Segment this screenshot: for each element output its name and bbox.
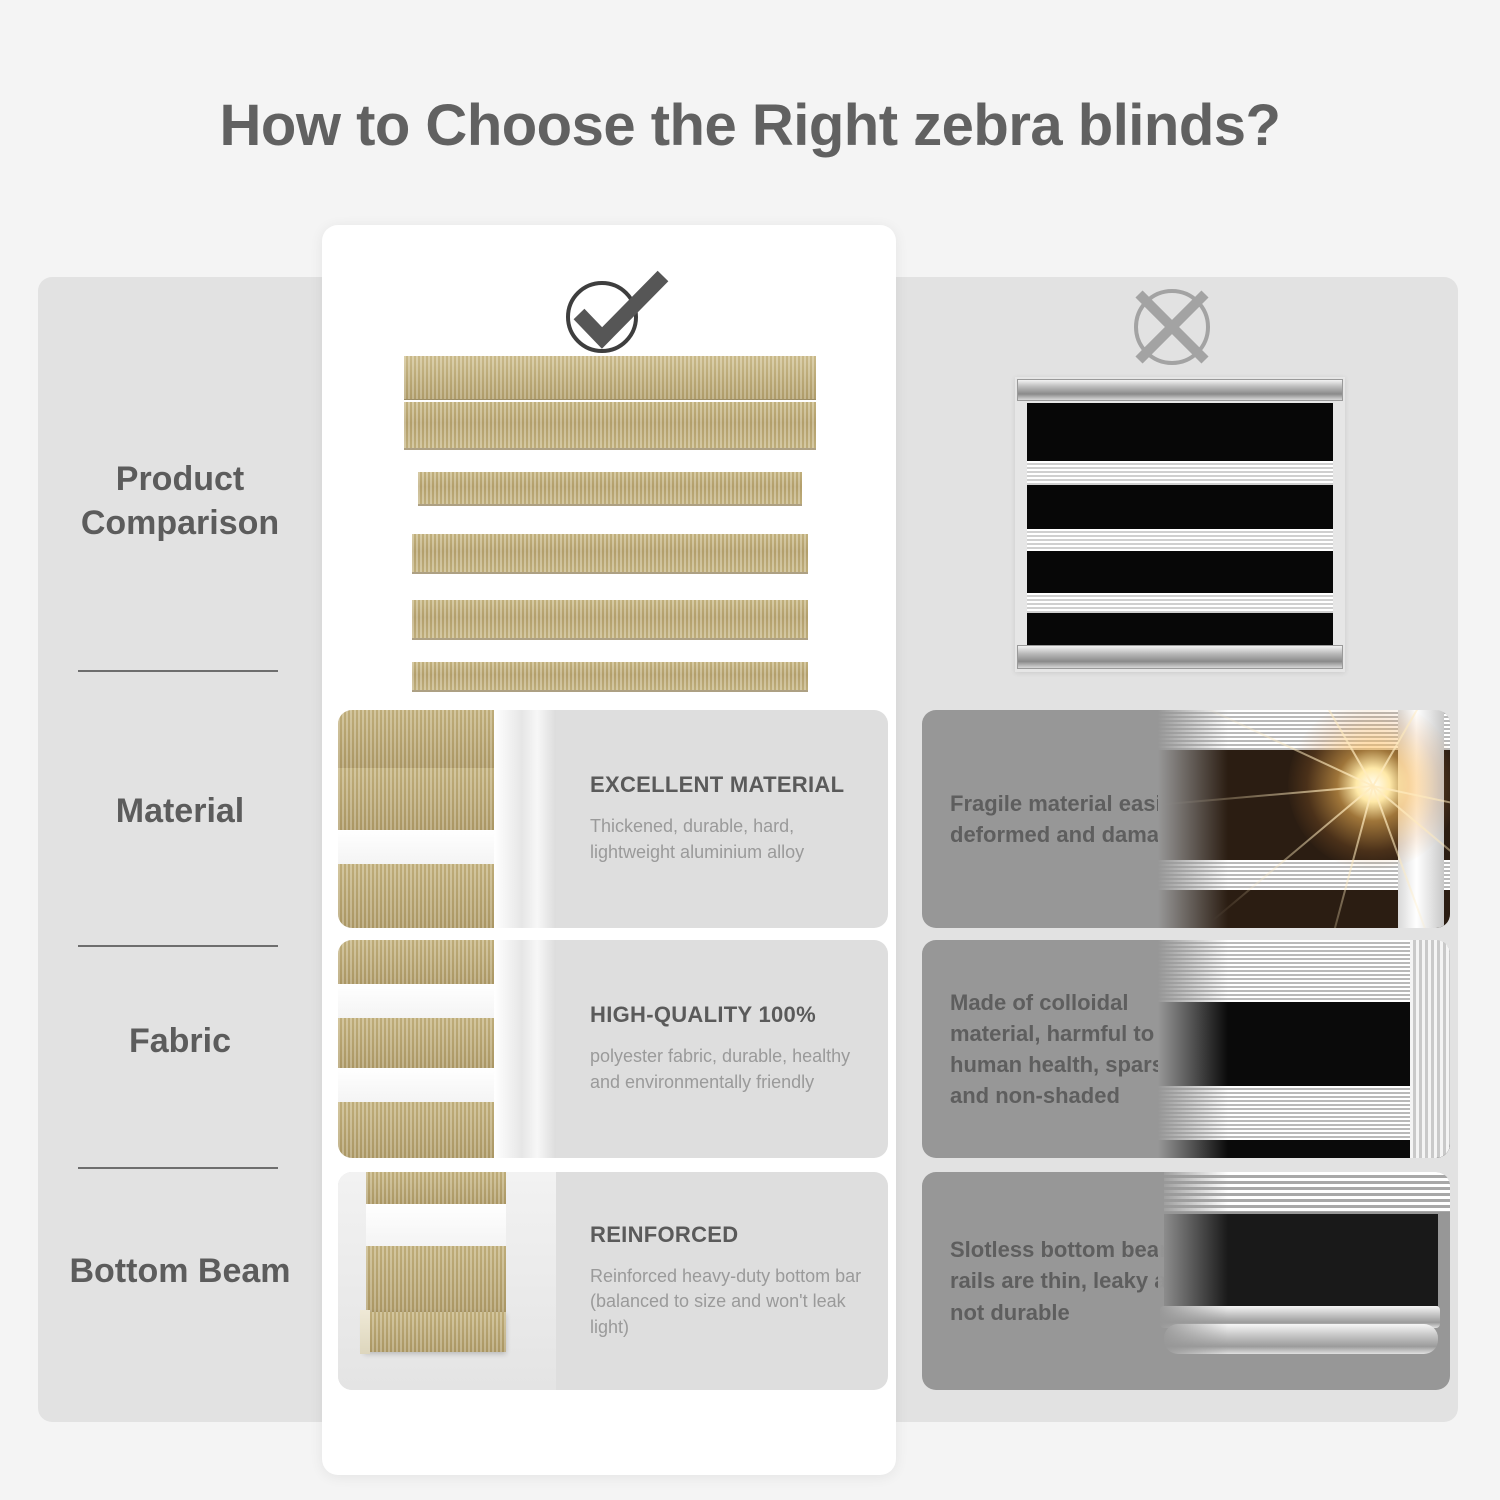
good-feature-card-fabric: HIGH-QUALITY 100% polyester fabric, dura… xyxy=(338,940,888,1158)
good-feature-card-bottom-beam: REINFORCED Reinforced heavy-duty bottom … xyxy=(338,1172,888,1390)
blind-dark-band xyxy=(1027,613,1333,647)
blind-slat xyxy=(404,402,816,450)
blind-dark-band xyxy=(1027,485,1333,529)
bad-feature-image-fabric xyxy=(1158,940,1450,1158)
bottom-bar xyxy=(412,662,808,692)
good-feature-image-bottom-beam xyxy=(338,1172,556,1390)
row-divider xyxy=(78,1167,278,1169)
blind-sheer-band xyxy=(1027,529,1333,551)
bottom-rail xyxy=(1017,645,1343,669)
bad-hero-image xyxy=(1015,377,1345,672)
blind-slat xyxy=(412,600,808,640)
blind-dark-band xyxy=(1027,551,1333,593)
row-label-column: Product Comparison Material Fabric Botto… xyxy=(38,277,322,1422)
row-label-product-comparison: Product Comparison xyxy=(38,437,322,567)
x-circle-icon xyxy=(1112,272,1232,382)
good-feature-body: Reinforced heavy-duty bottom bar (balanc… xyxy=(590,1264,862,1341)
blind-slat xyxy=(412,534,808,574)
bad-feature-card-fabric: Made of colloidal material, harmful to h… xyxy=(922,940,1450,1158)
good-feature-body: Thickened, durable, hard, lightweight al… xyxy=(590,814,862,865)
good-feature-image-fabric xyxy=(338,940,556,1158)
headrail xyxy=(404,356,816,400)
bad-feature-card-material: Fragile material easily deformed and dam… xyxy=(922,710,1450,928)
good-feature-body: polyester fabric, durable, healthy and e… xyxy=(590,1044,862,1095)
row-label-material: Material xyxy=(38,767,322,857)
blind-sheer-band xyxy=(1027,593,1333,613)
good-feature-heading: HIGH-QUALITY 100% xyxy=(590,1002,862,1028)
comparison-infographic: How to Choose the Right zebra blinds? Pr… xyxy=(0,0,1500,1500)
good-feature-heading: EXCELLENT MATERIAL xyxy=(590,772,862,798)
blind-sheer-band xyxy=(1027,461,1333,485)
good-feature-image-material xyxy=(338,710,556,928)
top-rail xyxy=(1017,379,1343,401)
good-feature-card-material: EXCELLENT MATERIAL Thickened, durable, h… xyxy=(338,710,888,928)
row-label-fabric: Fabric xyxy=(38,997,322,1087)
row-label-bottom-beam: Bottom Beam xyxy=(38,1207,322,1337)
bad-feature-card-bottom-beam: Slotless bottom beam rails are thin, lea… xyxy=(922,1172,1450,1390)
bad-feature-image-bottom-beam xyxy=(1158,1172,1450,1390)
good-feature-heading: REINFORCED xyxy=(590,1222,862,1248)
blind-dark-band xyxy=(1027,403,1333,461)
good-hero-image xyxy=(404,356,816,696)
blind-slat xyxy=(418,472,802,506)
page-title: How to Choose the Right zebra blinds? xyxy=(0,92,1500,159)
row-divider xyxy=(78,670,278,672)
row-divider xyxy=(78,945,278,947)
bad-feature-image-material xyxy=(1158,710,1450,928)
check-circle-icon xyxy=(545,262,675,362)
